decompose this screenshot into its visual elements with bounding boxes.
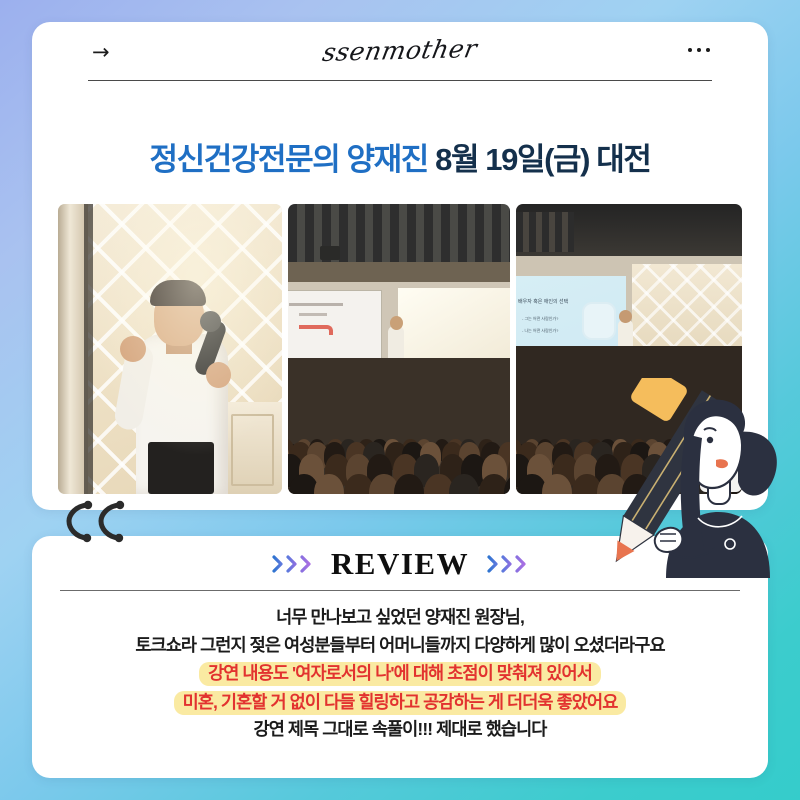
mascot-figure	[700, 436, 742, 492]
review-line-3: 강연 내용도 '여자로서의 나'에 대해 초점이 맞춰져 있어서	[42, 659, 758, 687]
chevrons-right-icon	[487, 554, 528, 574]
top-card: → ssenmother 정신건강전문의 양재진 8월 19일(금) 대전	[32, 22, 768, 510]
photo-speaker-with-slide[interactable]: 배우자 혹은 애인의 선택 - 그는 어떤 사람인가? - 나는 어떤 사람인가…	[516, 204, 742, 494]
header-divider	[88, 80, 712, 81]
slide-bullet-2: - 나는 어떤 사람인가?	[522, 328, 558, 334]
review-line-5: 강연 제목 그대로 속풀이!!! 제대로 했습니다	[42, 716, 758, 744]
brand-logo: ssenmother	[56, 27, 745, 74]
photo-lecture-hall-wide[interactable]	[288, 204, 510, 494]
title-highlight: 정신건강전문의 양재진	[149, 142, 427, 177]
title-rest: 8월 19일(금) 대전	[435, 142, 650, 177]
review-divider	[60, 590, 740, 591]
photo-speaker-closeup[interactable]	[58, 204, 282, 494]
review-line-1: 너무 만나보고 싶었던 양재진 원장님,	[42, 604, 758, 632]
review-title: REVIEW	[331, 546, 469, 582]
review-heading: REVIEW	[32, 546, 768, 582]
review-line-2: 토크쇼라 그런지 젖은 여성분들부터 어머니들까지 다양하게 많이 오셨더라구요	[42, 632, 758, 660]
page-title: 정신건강전문의 양재진 8월 19일(금) 대전	[32, 134, 768, 179]
review-card: REVIEW 너무 만나보고 싶었던 양재진 원장님, 토크쇼라 그런지 젖은 …	[32, 536, 768, 778]
quote-mark-icon	[62, 498, 130, 544]
review-line-4: 미혼, 기혼할 거 없이 다들 힐링하고 공감하는 게 더더욱 좋았어요	[42, 688, 758, 716]
audience	[516, 346, 742, 494]
audience	[288, 358, 510, 494]
more-options-icon[interactable]	[688, 40, 710, 60]
slide-title: 배우자 혹은 애인의 선택	[518, 298, 568, 305]
review-text-block: 너무 만나보고 싶었던 양재진 원장님, 토크쇼라 그런지 젖은 여성분들부터 …	[42, 604, 758, 744]
chevrons-left-icon	[272, 554, 313, 574]
card-header: → ssenmother	[32, 22, 768, 90]
photo-gallery: 배우자 혹은 애인의 선택 - 그는 어떤 사람인가? - 나는 어떤 사람인가…	[58, 204, 742, 494]
slide-bullet-1: - 그는 어떤 사람인가?	[522, 316, 558, 322]
